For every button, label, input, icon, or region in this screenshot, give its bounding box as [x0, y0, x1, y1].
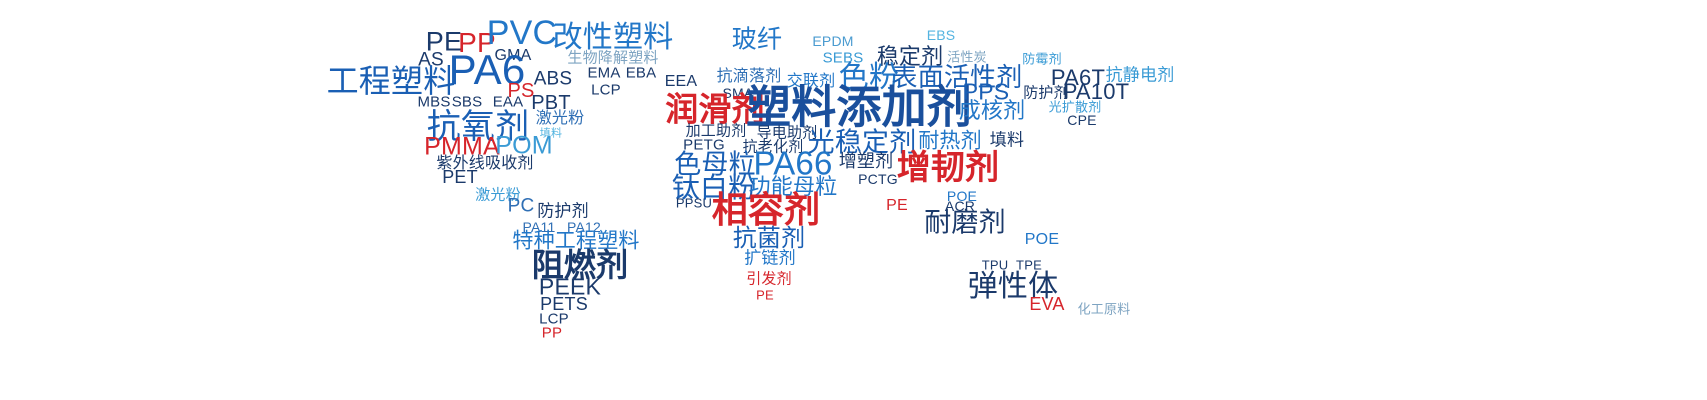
word-cloud-term[interactable]: PCTG — [858, 172, 898, 186]
word-cloud-term[interactable]: 扩链剂 — [744, 251, 796, 268]
word-cloud-term[interactable]: 耐磨剂 — [924, 210, 1006, 237]
word-cloud-term[interactable]: 化工原料 — [1078, 304, 1131, 317]
word-cloud-canvas: PEPPPVCGMA改性塑料玻纤EPDMEBSASPA6生物降解塑料SEBS稳定… — [0, 0, 1707, 400]
word-cloud-term[interactable]: EPDM — [812, 34, 853, 48]
word-cloud-term[interactable]: EMA — [587, 66, 620, 81]
word-cloud-term[interactable]: PC — [508, 197, 535, 216]
word-cloud-term[interactable]: 增韧剂 — [897, 151, 1000, 185]
word-cloud-term[interactable]: PET — [442, 168, 478, 186]
word-cloud-term[interactable]: 生物降解塑料 — [567, 51, 658, 66]
word-cloud-term[interactable]: 引发剂 — [746, 272, 792, 287]
word-cloud-term[interactable]: ABS — [534, 70, 573, 89]
word-cloud-term[interactable]: EVA — [1029, 295, 1064, 313]
word-cloud-term[interactable]: EEA — [665, 74, 698, 90]
word-cloud-term[interactable]: 玻纤 — [732, 27, 782, 52]
word-cloud-term[interactable]: 填料 — [990, 133, 1024, 150]
word-cloud-term[interactable]: 工程塑料 — [327, 65, 456, 97]
word-cloud-term[interactable]: POE — [1025, 232, 1059, 248]
word-cloud-term[interactable]: PE — [886, 198, 908, 214]
word-cloud-term[interactable]: LCP — [591, 83, 621, 98]
word-cloud-term[interactable]: 成核剂 — [959, 101, 1026, 123]
word-cloud-term[interactable]: 激光粉 — [536, 110, 585, 126]
word-cloud-term[interactable]: CPE — [1067, 113, 1096, 127]
word-cloud-term[interactable]: EBS — [927, 28, 956, 42]
word-cloud-term[interactable]: PE — [756, 289, 774, 302]
word-cloud-term[interactable]: 抗菌剂 — [733, 226, 806, 250]
word-cloud-term[interactable]: PPSU — [676, 197, 712, 210]
word-cloud-term[interactable]: EBA — [626, 66, 657, 81]
word-cloud-term[interactable]: PVC — [487, 16, 558, 50]
word-cloud-term[interactable]: 增塑剂 — [839, 153, 894, 171]
word-cloud-term[interactable]: 防护剂 — [537, 204, 589, 221]
word-cloud-term[interactable]: PP — [542, 326, 562, 341]
